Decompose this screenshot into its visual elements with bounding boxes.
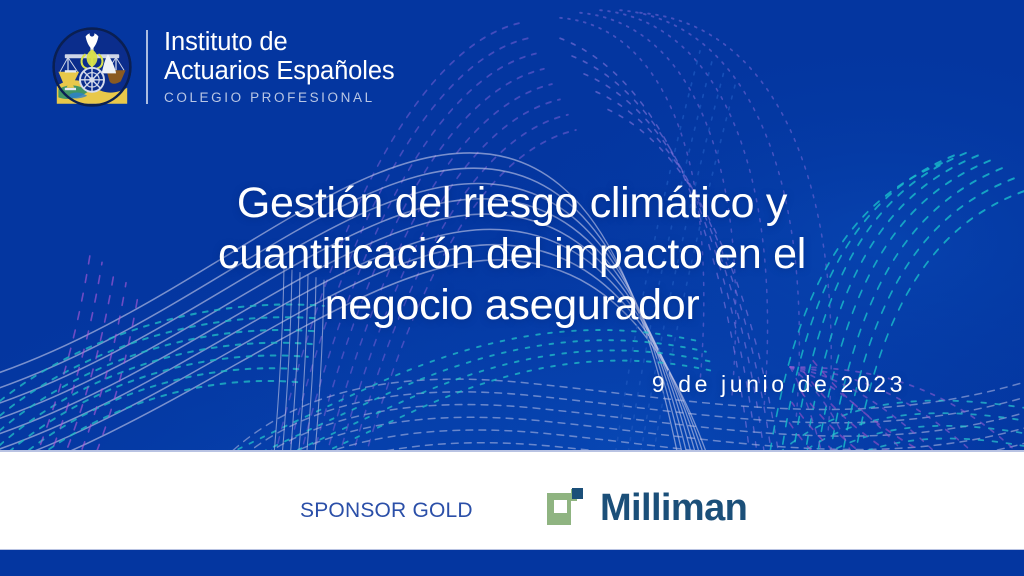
logo-divider-icon [146, 30, 148, 104]
title-line-2: cuantificación del impacto en el [0, 229, 1024, 280]
actuary-crest-icon [52, 27, 132, 107]
milliman-mark-icon [545, 487, 591, 529]
event-date: 9 de junio de 2023 [652, 369, 906, 399]
organization-logo-lockup: Instituto de Actuarios Españoles COLEGIO… [52, 27, 395, 107]
title-line-3: negocio asegurador [0, 280, 1024, 331]
org-name-line-2: Actuarios Españoles [164, 57, 395, 86]
organization-name-block: Instituto de Actuarios Españoles COLEGIO… [164, 28, 395, 107]
sponsor-tier-label: SPONSOR GOLD [300, 498, 473, 524]
milliman-logo: Milliman [545, 487, 747, 529]
title-line-1: Gestión del riesgo climático y [0, 178, 1024, 229]
footer-bar [0, 550, 1024, 576]
org-subtitle: COLEGIO PROFESIONAL [164, 88, 395, 107]
presentation-title-slide: Instituto de Actuarios Españoles COLEGIO… [0, 0, 1024, 576]
milliman-wordmark: Milliman [600, 487, 747, 529]
slide-title: Gestión del riesgo climático y cuantific… [0, 178, 1024, 331]
org-name-line-1: Instituto de [164, 28, 395, 57]
sponsor-band [0, 452, 1024, 550]
